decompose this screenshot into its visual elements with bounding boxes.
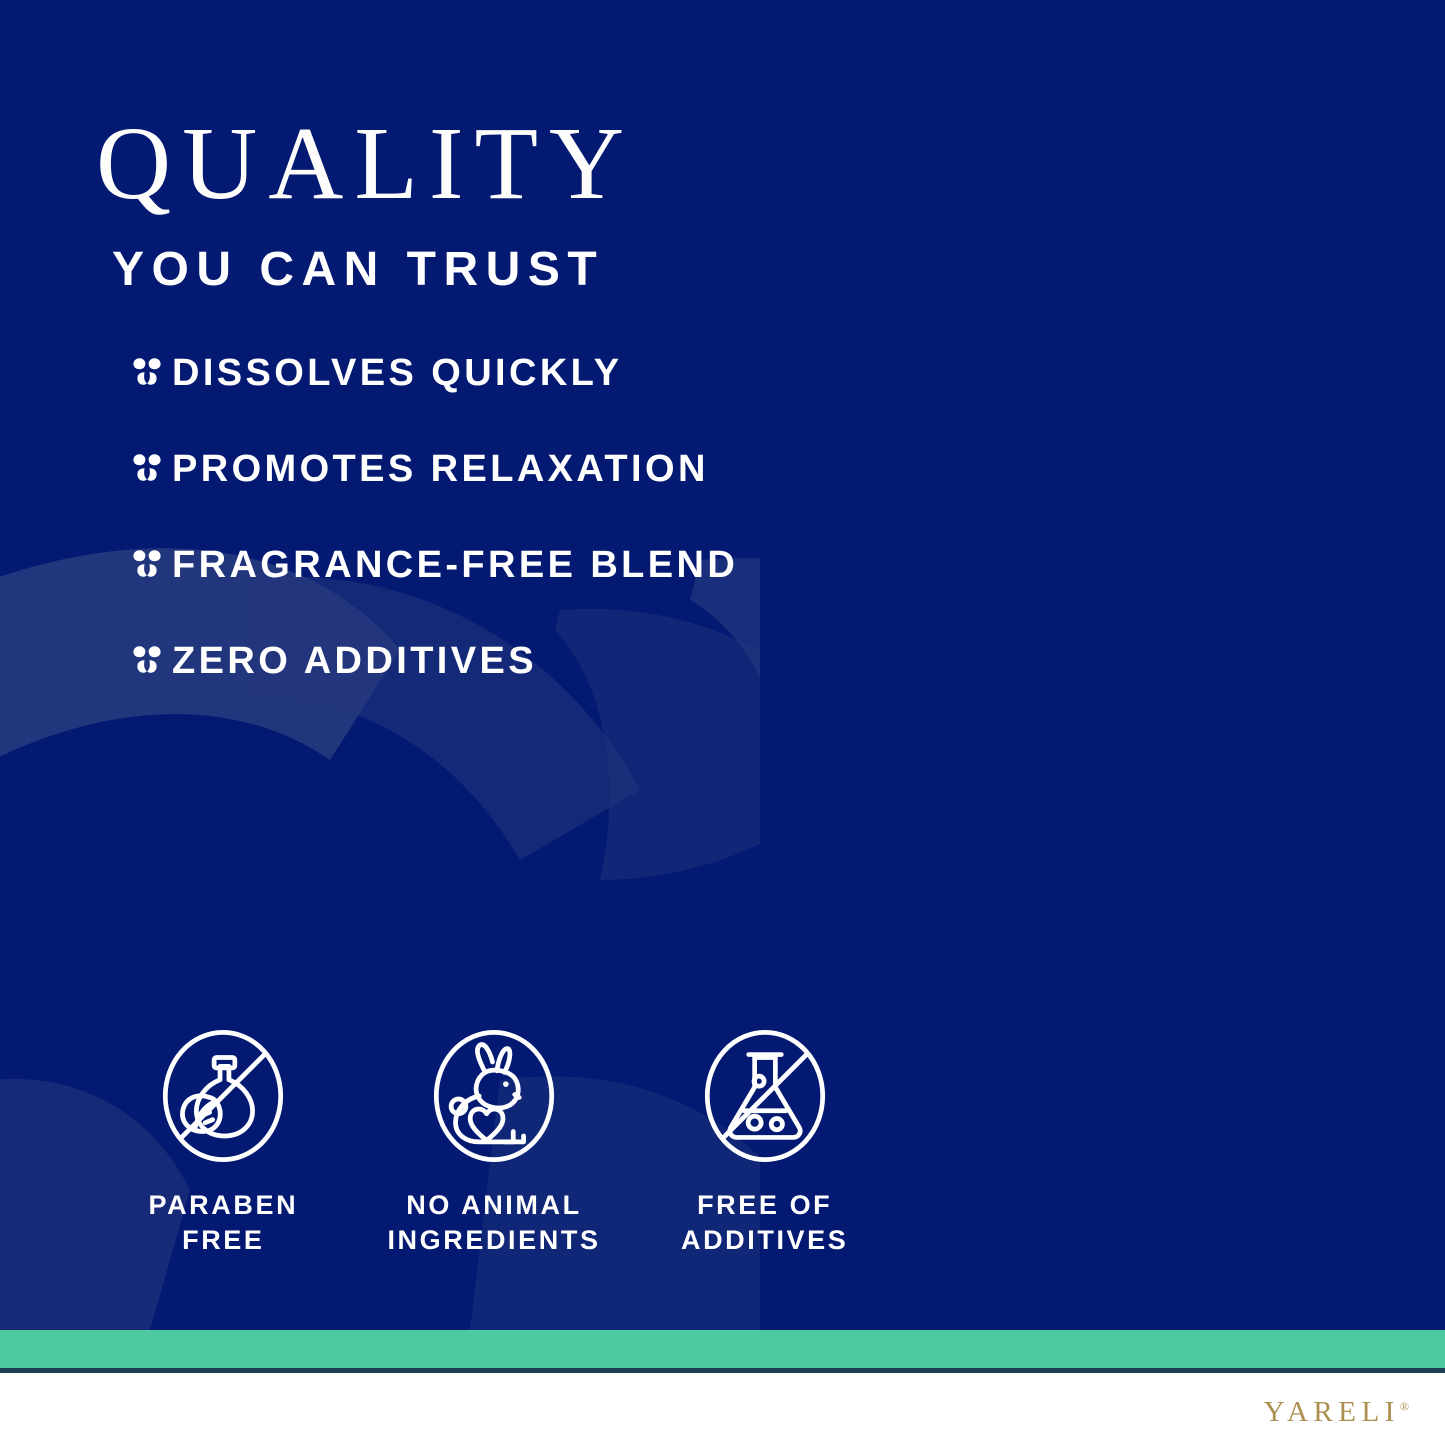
rabbit-heart-cruelty-free-icon bbox=[420, 1022, 568, 1170]
droplet-pair-icon bbox=[130, 356, 164, 390]
trademark-symbol: ® bbox=[1400, 1399, 1409, 1413]
benefit-item-promotes-relaxation: PROMOTES RELAXATION bbox=[130, 446, 830, 492]
badge-label: PARABEN FREE bbox=[148, 1188, 298, 1257]
badge-label-line2: FREE bbox=[182, 1225, 264, 1255]
badge-label: NO ANIMAL INGREDIENTS bbox=[387, 1188, 600, 1257]
navy-background-panel: QUALITY YOU CAN TRUST bbox=[0, 0, 1445, 1330]
benefit-label: DISSOLVES QUICKLY bbox=[172, 354, 623, 392]
benefit-item-fragrance-free-blend: FRAGRANCE-FREE BLEND bbox=[130, 542, 830, 588]
badge-label-line1: NO ANIMAL bbox=[406, 1190, 581, 1220]
certification-badges: PARABEN FREE bbox=[80, 1022, 900, 1257]
droplet-pair-icon bbox=[130, 644, 164, 678]
benefit-label: ZERO ADDITIVES bbox=[172, 642, 537, 680]
green-accent-bar bbox=[0, 1330, 1445, 1368]
brand-logo: YARELI® bbox=[1264, 1396, 1409, 1429]
benefits-list: DISSOLVES QUICKLY PROMOTES RELAXATION bbox=[130, 350, 830, 734]
benefit-label: PROMOTES RELAXATION bbox=[172, 450, 709, 488]
benefit-item-dissolves-quickly: DISSOLVES QUICKLY bbox=[130, 350, 830, 396]
badge-no-animal-ingredients: NO ANIMAL INGREDIENTS bbox=[359, 1022, 630, 1257]
footer-bar bbox=[0, 1373, 1445, 1445]
benefit-item-zero-additives: ZERO ADDITIVES bbox=[130, 638, 830, 684]
page-title: QUALITY bbox=[96, 112, 635, 216]
no-additives-flask-icon bbox=[691, 1022, 839, 1170]
badge-label-line1: FREE OF bbox=[697, 1190, 832, 1220]
droplet-pair-icon bbox=[130, 452, 164, 486]
badge-label-line2: INGREDIENTS bbox=[387, 1225, 600, 1255]
brand-name: YARELI bbox=[1264, 1396, 1400, 1428]
infographic-root: QUALITY YOU CAN TRUST bbox=[0, 0, 1445, 1445]
droplet-pair-icon bbox=[130, 548, 164, 582]
no-paraben-flask-leaf-icon bbox=[149, 1022, 297, 1170]
badge-free-of-additives: FREE OF ADDITIVES bbox=[629, 1022, 900, 1257]
badge-label-line1: PARABEN bbox=[148, 1190, 298, 1220]
badge-label-line2: ADDITIVES bbox=[681, 1225, 848, 1255]
benefit-label: FRAGRANCE-FREE BLEND bbox=[172, 546, 738, 584]
badge-paraben-free: PARABEN FREE bbox=[88, 1022, 359, 1257]
badge-label: FREE OF ADDITIVES bbox=[681, 1188, 848, 1257]
page-subtitle: YOU CAN TRUST bbox=[112, 246, 604, 294]
